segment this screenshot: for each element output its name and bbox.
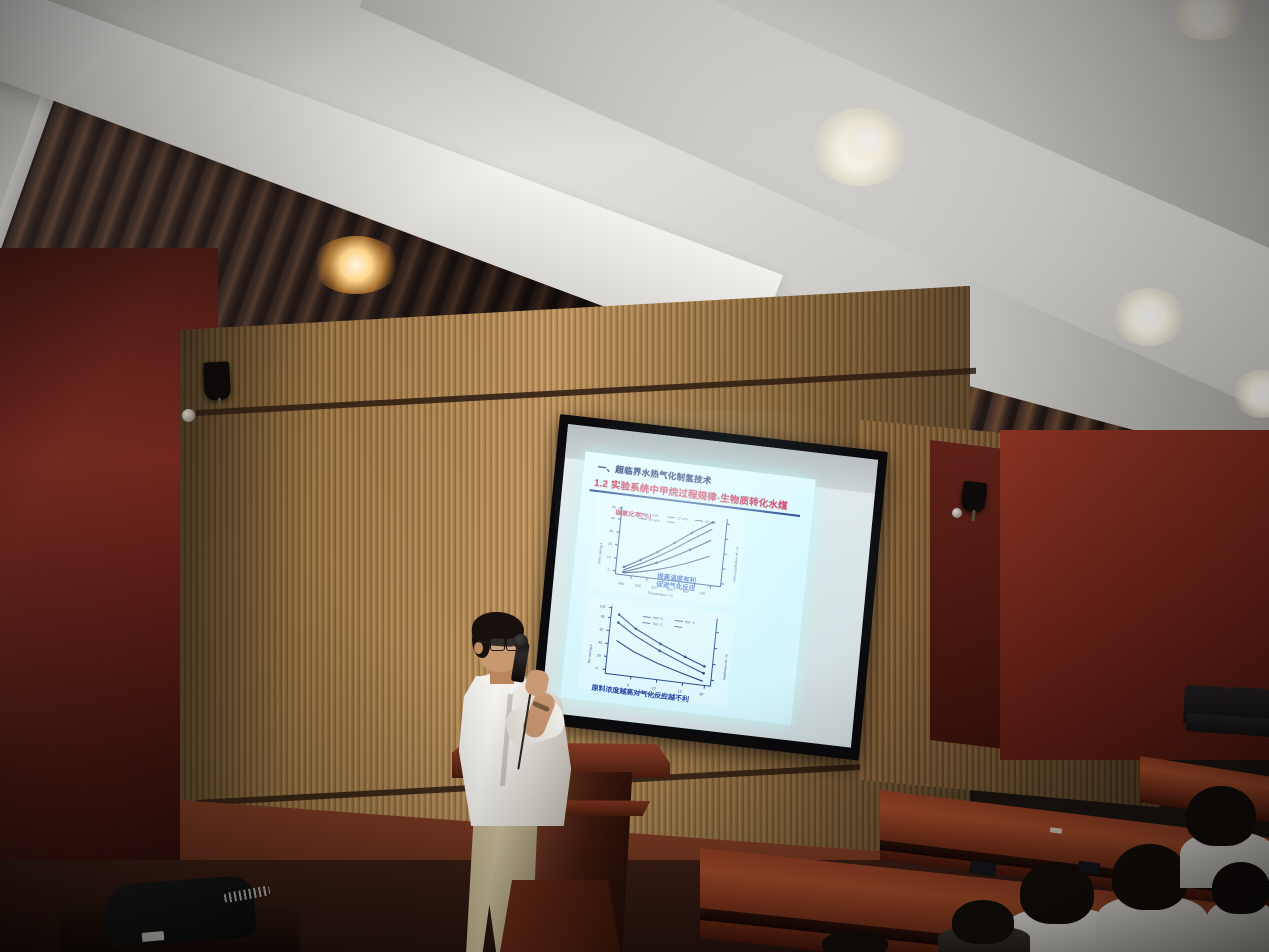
wall-speaker-left-icon (203, 361, 231, 400)
auditorium-photo: 一、超临界水热气化制氢技术 1.2 实验系统中甲烷过程规律-生物质转化水煤 (0, 0, 1269, 952)
side-table-card (142, 931, 165, 942)
audience-head-5 (952, 900, 1014, 944)
svg-text:Carbon gasification eff. / %: Carbon gasification eff. / % (732, 546, 740, 582)
wall-speaker-right-icon (960, 481, 987, 513)
wall-mount-knob-left (182, 409, 195, 422)
svg-text:30: 30 (609, 529, 613, 533)
podium-base (500, 880, 620, 952)
svg-text:Gasification eff. / %: Gasification eff. / % (722, 654, 729, 680)
svg-text:700 °C: 700 °C (652, 622, 663, 627)
svg-text:10: 10 (607, 555, 611, 559)
svg-text:CH4 / mol·kg-1: CH4 / mol·kg-1 (597, 542, 603, 564)
svg-text:20: 20 (699, 692, 703, 696)
wall-mount-knob-right (952, 508, 962, 518)
svg-text:500: 500 (635, 583, 641, 588)
svg-text:700: 700 (700, 591, 706, 596)
audience-head-3 (1186, 786, 1256, 846)
presenter-shirt (454, 676, 576, 826)
glasses-lens-left (490, 638, 505, 651)
svg-text:15 wt%: 15 wt% (705, 520, 716, 525)
glasses-bridge (503, 642, 507, 644)
svg-text:10 wt%: 10 wt% (677, 516, 688, 521)
svg-text:0: 0 (595, 666, 597, 670)
audience-head-2 (1112, 844, 1188, 910)
svg-text:600 °C: 600 °C (653, 616, 664, 621)
svg-text:Temperature / °C: Temperature / °C (647, 591, 673, 598)
svg-text:650 °C: 650 °C (685, 620, 696, 625)
svg-text:60: 60 (599, 627, 603, 631)
svg-text:20: 20 (597, 653, 601, 657)
svg-text:40: 40 (598, 640, 602, 644)
audience-head-4 (1212, 862, 1269, 914)
black-bag[interactable] (103, 875, 257, 947)
audience-head-1 (1020, 862, 1094, 924)
speaker-bracket-left (218, 398, 222, 409)
presentation-slide: 一、超临界水热气化制氢技术 1.2 实验系统中甲烷过程规律-生物质转化水煤 (561, 451, 816, 725)
audience-head-6 (822, 930, 888, 952)
presenter-ear (474, 642, 483, 654)
svg-text:0: 0 (607, 568, 609, 572)
svg-text:20: 20 (608, 542, 612, 546)
svg-text:80: 80 (601, 614, 605, 618)
svg-text:450: 450 (618, 581, 624, 586)
svg-text:100: 100 (600, 604, 606, 609)
